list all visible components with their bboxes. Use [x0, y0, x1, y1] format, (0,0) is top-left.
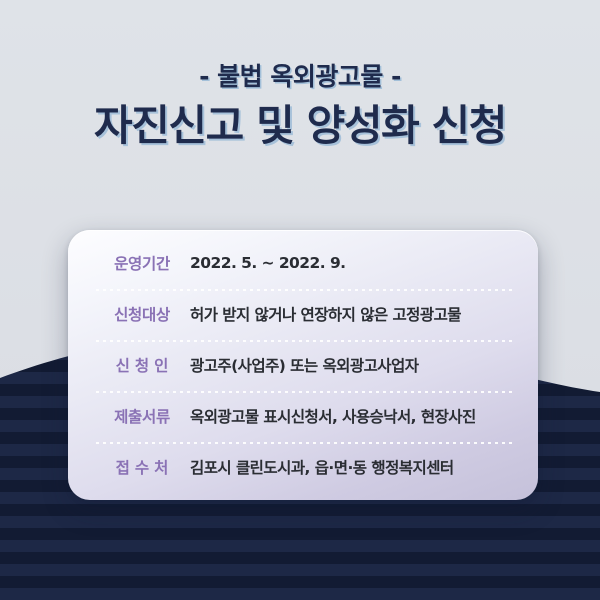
row-label-reception-office: 접수처 — [100, 456, 184, 478]
table-row: 운영기간 2022. 5. ~ 2022. 9. — [68, 238, 538, 289]
info-card: 운영기간 2022. 5. ~ 2022. 9. 신청대상 허가 받지 않거나 … — [68, 230, 538, 500]
table-row: 접수처 김포시 클린도시과, 읍·면·동 행정복지센터 — [68, 442, 538, 493]
row-value-documents: 옥외광고물 표시신청서, 사용승낙서, 현장사진 — [190, 405, 538, 427]
table-row: 신청대상 허가 받지 않거나 연장하지 않은 고정광고물 — [68, 289, 538, 340]
kicker-text: - 불법 옥외광고물 - — [0, 62, 600, 92]
row-value-applicant: 광고주(사업주) 또는 옥외광고사업자 — [190, 354, 538, 376]
row-label-application-target: 신청대상 — [100, 303, 184, 325]
row-label-applicant: 신청인 — [100, 354, 184, 376]
table-row: 신청인 광고주(사업주) 또는 옥외광고사업자 — [68, 340, 538, 391]
table-row: 제출서류 옥외광고물 표시신청서, 사용승낙서, 현장사진 — [68, 391, 538, 442]
row-value-application-target: 허가 받지 않거나 연장하지 않은 고정광고물 — [190, 303, 538, 325]
row-label-documents: 제출서류 — [100, 405, 184, 427]
row-value-operating-period: 2022. 5. ~ 2022. 9. — [190, 254, 538, 272]
page-title: 자진신고 및 양성화 신청 — [0, 102, 600, 151]
poster-title-block: - 불법 옥외광고물 - 자진신고 및 양성화 신청 — [0, 62, 600, 151]
row-label-operating-period: 운영기간 — [100, 252, 184, 274]
row-value-reception-office: 김포시 클린도시과, 읍·면·동 행정복지센터 — [190, 456, 538, 478]
poster-canvas: - 불법 옥외광고물 - 자진신고 및 양성화 신청 운영기간 2022. 5.… — [0, 0, 600, 600]
